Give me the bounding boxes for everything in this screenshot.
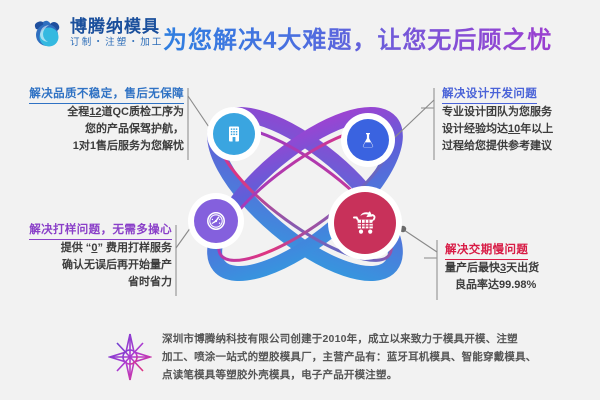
text-line: 设计经验均达10年以上 bbox=[442, 121, 600, 138]
block-bottom-left: 解决打样问题，无需多操心 提供 “0” 费用打样服务 确认无误后再开始量产 省时… bbox=[12, 220, 172, 291]
text-line: 省时省力 bbox=[12, 274, 172, 291]
block-top-left-lines: 全程12道QC质检工序为 您的产品保驾护航， 1对1售后服务为您解忧 bbox=[24, 104, 184, 155]
footer-text: 深圳市博腾纳科技有限公司创建于2010年，成立以来致力于模具开模、注塑 加工、喷… bbox=[162, 330, 537, 384]
text-line: 量产后最快3天出货 bbox=[445, 260, 600, 277]
block-top-right-lines: 专业设计团队为您服务 设计经验均达10年以上 过程给您提供参考建议 bbox=[442, 104, 600, 155]
block-bottom-right-lines: 量产后最快3天出货 良品率达99.98% bbox=[445, 260, 600, 294]
text-line: 确认无误后再开始量产 bbox=[12, 257, 172, 274]
block-bottom-left-title: 解决打样问题，无需多操心 bbox=[29, 221, 172, 240]
block-top-right: 解决设计开发问题 专业设计团队为您服务 设计经验均达10年以上 过程给您提供参考… bbox=[442, 84, 600, 155]
text-line: 全程12道QC质检工序为 bbox=[24, 104, 184, 121]
text-line: 过程给您提供参考建议 bbox=[442, 138, 600, 155]
block-top-right-title: 解决设计开发问题 bbox=[442, 85, 537, 104]
text-line: 1对1售后服务为您解忧 bbox=[24, 138, 184, 155]
footer-line: 点读笔模具等塑胶外壳模具，电子产品开模注塑。 bbox=[162, 366, 537, 384]
block-top-left-title: 解决品质不稳定，售后无保障 bbox=[29, 85, 184, 104]
shopping-cart-icon[interactable] bbox=[334, 192, 396, 254]
footer-line: 深圳市博腾纳科技有限公司创建于2010年，成立以来致力于模具开模、注塑 bbox=[162, 330, 537, 348]
footer: 深圳市博腾纳科技有限公司创建于2010年，成立以来致力于模具开模、注塑 加工、喷… bbox=[108, 330, 578, 384]
block-bottom-right: 解决交期慢问题 量产后最快3天出货 良品率达99.98% bbox=[445, 240, 600, 294]
text-line: 您的产品保驾护航， bbox=[24, 121, 184, 138]
text-line: 提供 “0” 费用打样服务 bbox=[12, 240, 172, 257]
block-top-left: 解决品质不稳定，售后无保障 全程12道QC质检工序为 您的产品保驾护航， 1对1… bbox=[24, 84, 184, 155]
flask-icon[interactable] bbox=[347, 119, 389, 161]
text-line: 良品率达99.98% bbox=[445, 277, 600, 294]
block-bottom-right-title: 解决交期慢问题 bbox=[445, 241, 528, 260]
text-line: 专业设计团队为您服务 bbox=[442, 104, 600, 121]
infographic-root: 博腾纳模具 订制・注塑・加工 为您解决4大难题，让您无后顾之忧 bbox=[0, 0, 600, 400]
clock-gauge-icon[interactable] bbox=[194, 199, 238, 243]
sparkle-star-icon bbox=[108, 332, 152, 382]
factory-building-icon[interactable] bbox=[213, 113, 255, 155]
footer-line: 加工、喷涂一站式的塑胶模具厂，主营产品有：蓝牙耳机模具、智能穿戴模具、 bbox=[162, 348, 537, 366]
block-bottom-left-lines: 提供 “0” 费用打样服务 确认无误后再开始量产 省时省力 bbox=[12, 240, 172, 291]
